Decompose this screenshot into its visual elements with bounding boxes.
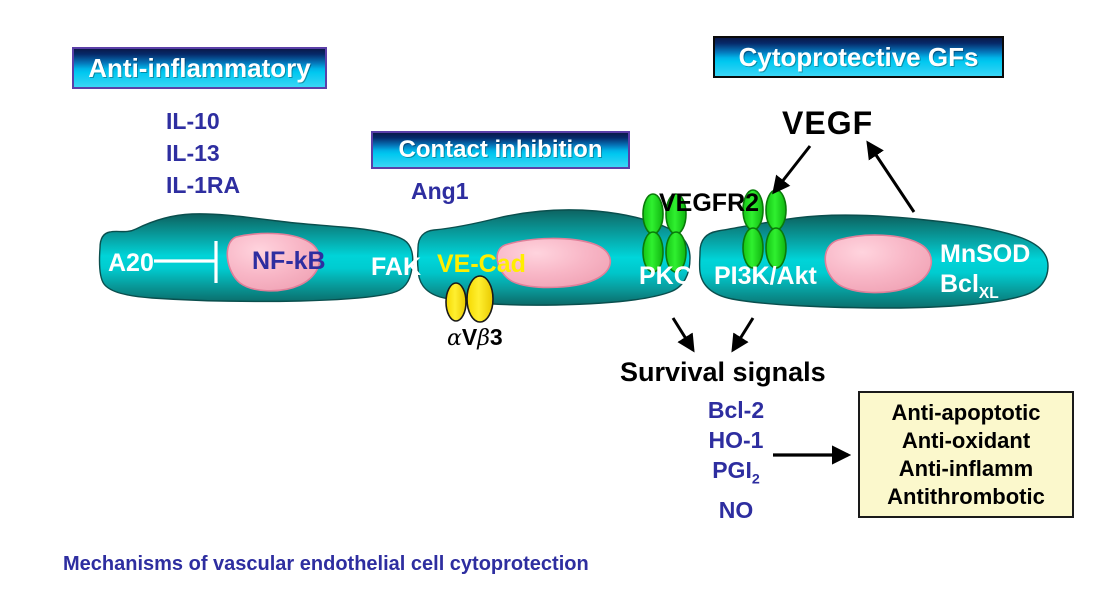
label-integrin-alpha-v-beta-3: αVβ3 [447, 324, 503, 351]
label-bcl-xl: BclXL [940, 270, 999, 303]
integrin-alpha-v-beta-3 [446, 276, 493, 322]
arrow-vegf-to-receptor [774, 146, 810, 192]
figure-canvas: Anti-inflammatory Contact inhibition Cyt… [0, 0, 1102, 611]
outcome-anti-oxidant: Anti-oxidant [902, 427, 1030, 455]
label-bcl-text: Bcl [940, 270, 979, 298]
arrow-pi3k-to-survival [733, 318, 753, 350]
greek-beta: β [477, 326, 490, 351]
list-item-bcl2: Bcl-2 [676, 395, 796, 425]
label-vegfr2: VEGFR2 [659, 189, 759, 218]
greek-alpha: α [447, 326, 462, 351]
label-a20: A20 [108, 249, 154, 278]
integrin-v: V [462, 324, 477, 350]
list-item-pgi2-subscript: 2 [752, 472, 760, 488]
label-mnsod: MnSOD [940, 240, 1030, 269]
outcome-antithrombotic: Antithrombotic [887, 483, 1045, 511]
banner-contact-inhibition: Contact inhibition [371, 131, 630, 169]
label-pi3k-akt: PI3K/Akt [714, 262, 817, 291]
label-pkc: PKC [639, 262, 692, 291]
cell-diagram-graphics [0, 0, 1102, 611]
label-nfkb: NF-kB [252, 247, 326, 276]
label-vegf: VEGF [782, 105, 873, 142]
integrin-3: 3 [490, 324, 503, 350]
label-ve-cad: VE-Cad [437, 250, 526, 279]
survival-signals-list: Bcl-2 HO-1 PGI2 NO [676, 395, 796, 525]
label-il1ra: IL-1RA [166, 172, 240, 199]
label-il10: IL-10 [166, 108, 220, 135]
outcome-anti-apoptotic: Anti-apoptotic [891, 399, 1040, 427]
label-bcl-subscript: XL [979, 285, 999, 302]
label-ang1: Ang1 [411, 178, 469, 205]
banner-anti-inflammatory: Anti-inflammatory [72, 47, 327, 89]
list-item-pgi2-text: PGI [712, 457, 752, 483]
arrow-pkc-to-survival [673, 318, 693, 350]
inhibition-connector-a20-nfkb [154, 241, 216, 283]
label-survival-signals: Survival signals [620, 357, 826, 388]
outcomes-box: Anti-apoptotic Anti-oxidant Anti-inflamm… [858, 391, 1074, 518]
nucleus-right [825, 235, 931, 293]
figure-caption: Mechanisms of vascular endothelial cell … [63, 553, 589, 576]
label-fak: FAK [371, 253, 421, 282]
list-item-no: NO [676, 495, 796, 525]
list-item-pgi2: PGI2 [676, 455, 796, 495]
list-item-ho1: HO-1 [676, 425, 796, 455]
outcome-anti-inflamm: Anti-inflamm [899, 455, 1033, 483]
label-il13: IL-13 [166, 140, 220, 167]
banner-cytoprotective-gfs: Cytoprotective GFs [713, 36, 1004, 78]
arrow-cell-to-vegf [868, 143, 914, 212]
